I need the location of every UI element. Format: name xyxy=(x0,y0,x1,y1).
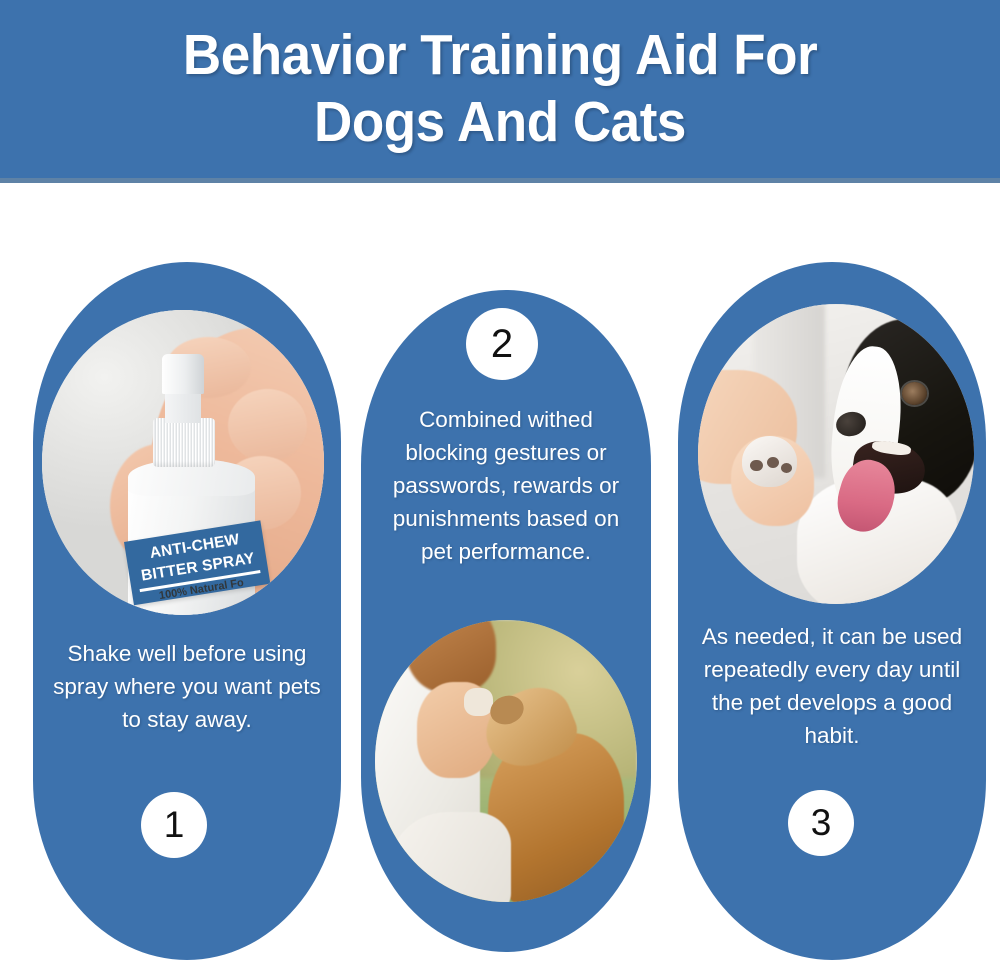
step-card-2: 2 Combined withed blocking gestures or p… xyxy=(361,290,651,952)
step-1-photo: ANTI-CHEW BITTER SPRAY 100% Natural Fo xyxy=(42,310,324,615)
treat-shape xyxy=(464,688,493,716)
paw-pad xyxy=(781,463,792,473)
person-lap xyxy=(391,812,512,902)
page-title-line-2: Dogs And Cats xyxy=(314,89,686,156)
step-2-number-badge: 2 xyxy=(466,308,538,380)
step-1-number-badge: 1 xyxy=(141,792,207,858)
dog-eye xyxy=(902,382,927,405)
step-3-photo xyxy=(698,304,974,604)
step-3-number-badge: 3 xyxy=(788,790,854,856)
step-3-caption: As needed, it can be used repeatedly eve… xyxy=(694,620,970,752)
finger-shape xyxy=(228,389,307,462)
infographic-page: Behavior Training Aid For Dogs And Cats … xyxy=(0,0,1000,968)
step-2-caption: Combined withed blocking gestures or pas… xyxy=(375,403,637,568)
bottle-collar xyxy=(153,418,215,467)
header-divider xyxy=(0,178,1000,183)
step-2-photo xyxy=(375,620,637,902)
header-banner: Behavior Training Aid For Dogs And Cats xyxy=(0,0,1000,178)
step-card-1: ANTI-CHEW BITTER SPRAY 100% Natural Fo S… xyxy=(33,262,341,960)
step-card-3: As needed, it can be used repeatedly eve… xyxy=(678,262,986,960)
steps-container: ANTI-CHEW BITTER SPRAY 100% Natural Fo S… xyxy=(0,262,1000,962)
page-title-line-1: Behavior Training Aid For xyxy=(183,22,817,89)
step-1-caption: Shake well before using spray where you … xyxy=(49,637,325,736)
spray-nozzle-icon xyxy=(162,354,204,394)
bottle-neck xyxy=(165,389,202,423)
